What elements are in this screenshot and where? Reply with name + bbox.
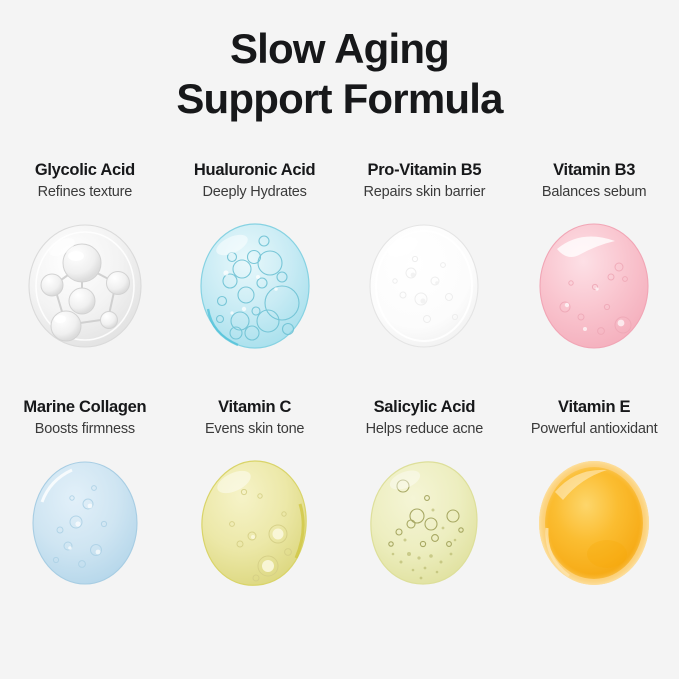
- ingredient-card-marine-collagen: Marine Collagen Boosts firmness: [0, 397, 170, 622]
- ingredient-row-1: Glycolic Acid Refines texture: [0, 160, 679, 385]
- title-line-2: Support Formula: [0, 74, 679, 124]
- ingredient-name: Hualuronic Acid: [194, 160, 315, 180]
- ingredient-card-vitamin-b3: Vitamin B3 Balances sebum: [509, 160, 679, 385]
- ingredient-card-pro-vitamin-b5: Pro-Vitamin B5 Repairs skin barrier: [340, 160, 510, 385]
- clear-gel-droplet-icon: [365, 221, 483, 351]
- orange-droplet-icon: [535, 458, 653, 588]
- ingredient-card-vitamin-c: Vitamin C Evens skin tone: [170, 397, 340, 622]
- yellow-green-bubble-droplet-icon: [365, 458, 483, 588]
- ingredient-swatch-wrap: [19, 455, 151, 591]
- ingredient-grid: Glycolic Acid Refines texture: [0, 160, 679, 622]
- ingredient-name: Marine Collagen: [23, 397, 146, 417]
- ingredient-name: Pro-Vitamin B5: [367, 160, 481, 180]
- ingredient-swatch-wrap: [528, 218, 660, 354]
- ingredient-description: Evens skin tone: [205, 420, 304, 439]
- ingredient-swatch-wrap: [528, 455, 660, 591]
- ingredient-swatch-wrap: [358, 455, 490, 591]
- ingredient-name: Salicylic Acid: [374, 397, 476, 417]
- ingredient-card-vitamin-e: Vitamin E Powerful antioxidant: [509, 397, 679, 622]
- page-title: Slow Aging Support Formula: [0, 24, 679, 124]
- ingredient-description: Balances sebum: [542, 183, 646, 202]
- title-line-1: Slow Aging: [0, 24, 679, 74]
- ingredient-name: Glycolic Acid: [35, 160, 135, 180]
- ingredient-description: Refines texture: [38, 183, 133, 202]
- ingredient-name: Vitamin E: [558, 397, 630, 417]
- infographic-poster: Slow Aging Support Formula Glycolic Acid…: [0, 0, 679, 679]
- ingredient-card-hualuronic-acid: Hualuronic Acid Deeply Hydrates: [170, 160, 340, 385]
- pink-gel-droplet-icon: [535, 221, 653, 351]
- ingredient-name: Vitamin B3: [553, 160, 635, 180]
- light-blue-droplet-icon: [26, 458, 144, 588]
- ingredient-row-2: Marine Collagen Boosts firmness: [0, 397, 679, 622]
- ingredient-description: Helps reduce acne: [366, 420, 484, 439]
- ingredient-description: Deeply Hydrates: [203, 183, 307, 202]
- ingredient-description: Powerful antioxidant: [531, 420, 658, 439]
- ingredient-swatch-wrap: [358, 218, 490, 354]
- ingredient-description: Repairs skin barrier: [364, 183, 486, 202]
- ingredient-swatch-wrap: [19, 218, 151, 354]
- blue-bubble-droplet-icon: [196, 221, 314, 351]
- clear-molecule-droplet-icon: [26, 221, 144, 351]
- ingredient-card-salicylic-acid: Salicylic Acid Helps reduce acne: [340, 397, 510, 622]
- ingredient-description: Boosts firmness: [35, 420, 135, 439]
- ingredient-name: Vitamin C: [218, 397, 291, 417]
- pale-yellow-droplet-icon: [196, 458, 314, 588]
- ingredient-swatch-wrap: [189, 218, 321, 354]
- ingredient-swatch-wrap: [189, 455, 321, 591]
- ingredient-card-glycolic-acid: Glycolic Acid Refines texture: [0, 160, 170, 385]
